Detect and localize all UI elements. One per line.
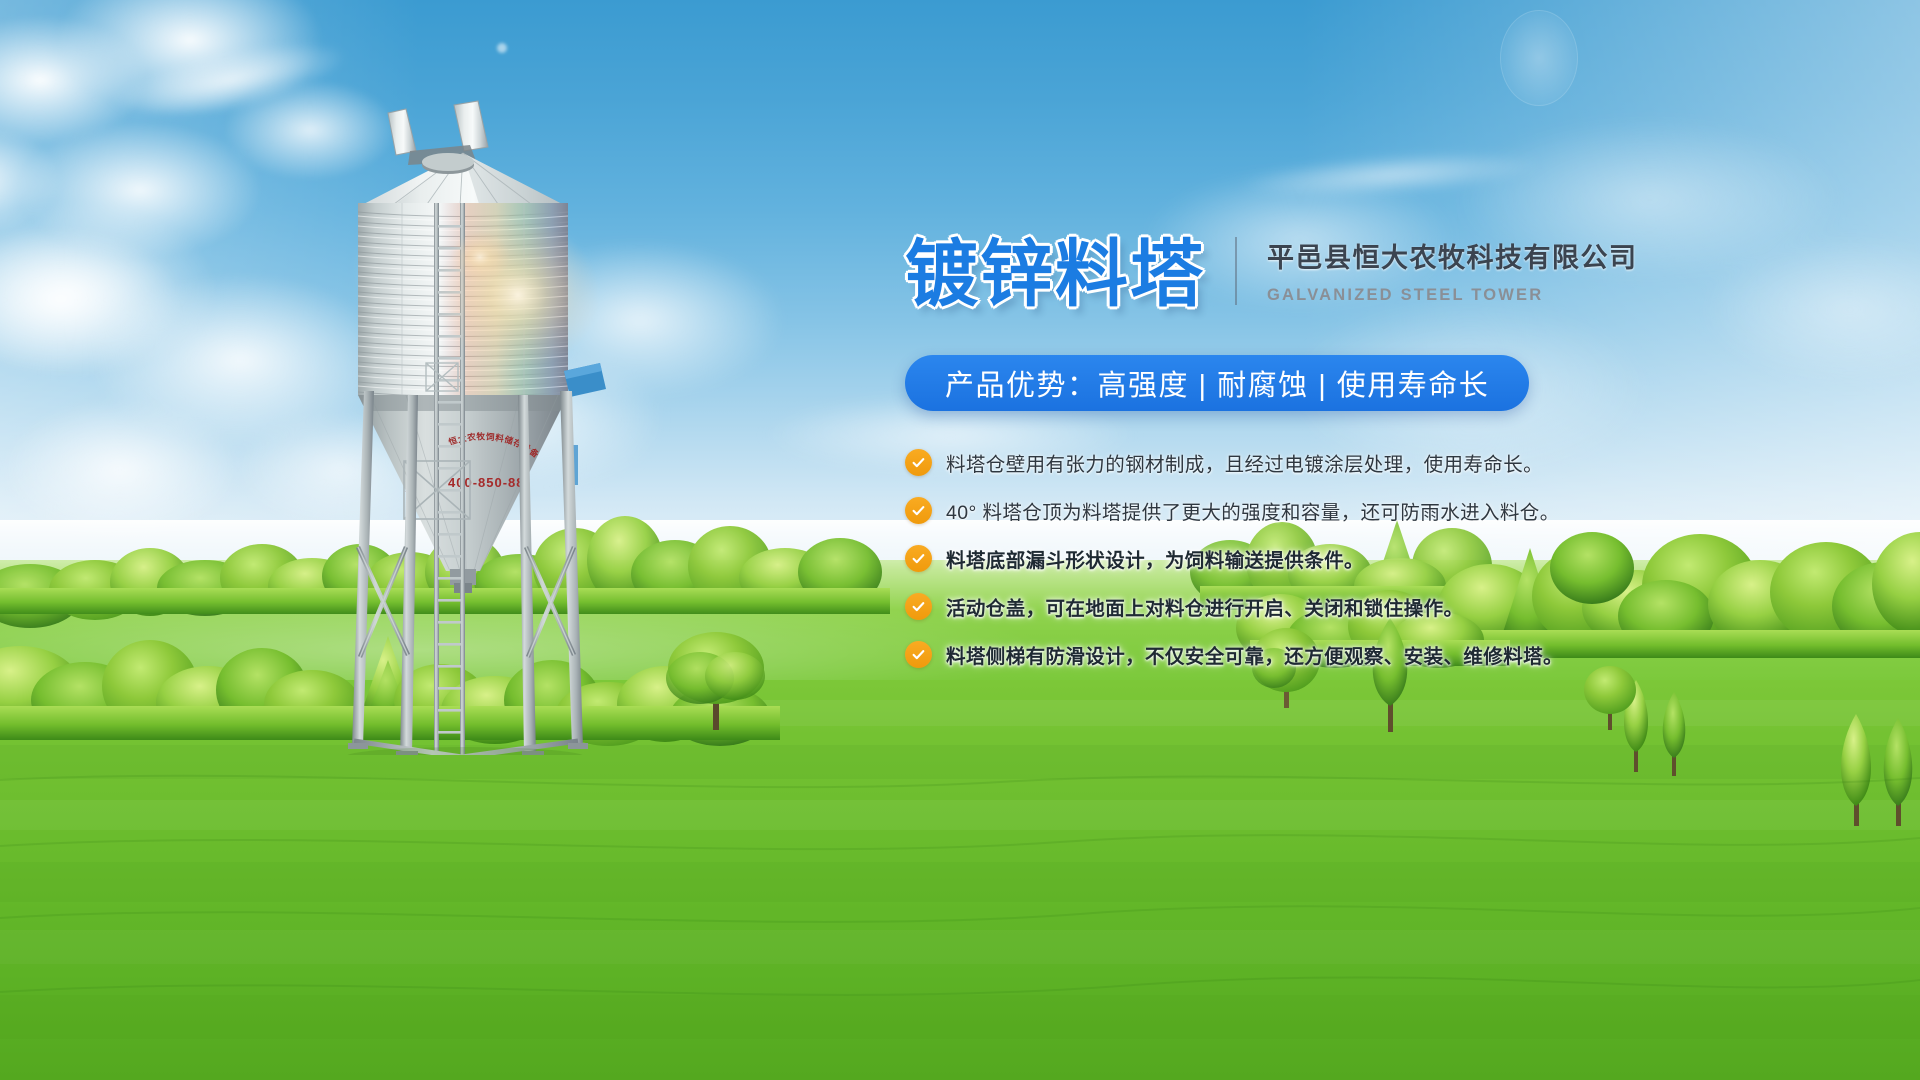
mow-stripe xyxy=(0,930,1920,964)
company-name: 平邑县恒大农牧科技有限公司 xyxy=(1267,236,1638,275)
advantage-pill: 产品优势：高强度 | 耐腐蚀 | 使用寿命长 xyxy=(905,355,1529,411)
advantage-pill-label: 产品优势：高强度 | 耐腐蚀 | 使用寿命长 xyxy=(945,362,1489,404)
check-circle-icon xyxy=(905,497,932,524)
list-item: 40° 料塔仓顶为料塔提供了更大的强度和容量，还可防雨水进入料仓。 xyxy=(905,497,1805,524)
check-circle-icon xyxy=(905,641,932,668)
silo-lens-flare-small xyxy=(450,231,510,283)
company-name-english: GALVANIZED STEEL TOWER xyxy=(1267,286,1638,305)
check-circle-icon xyxy=(905,593,932,620)
mow-stripe xyxy=(0,745,1920,779)
mow-stripe xyxy=(0,862,1920,902)
company-block: 平邑县恒大农牧科技有限公司 GALVANIZED STEEL TOWER xyxy=(1267,236,1638,311)
silo-roof xyxy=(358,153,568,207)
list-item: 料塔侧梯有防滑设计，不仅安全可靠，还方便观察、安装、维修料塔。 xyxy=(905,641,1805,668)
mow-stripe xyxy=(0,995,1920,1039)
list-item: 活动仓盖，可在地面上对料仓进行开启、关闭和锁住操作。 xyxy=(905,593,1805,620)
title-divider xyxy=(1235,237,1237,305)
mow-stripe xyxy=(0,800,1920,830)
check-circle-icon xyxy=(905,545,932,572)
content-panel: 镀锌料塔 平邑县恒大农牧科技有限公司 GALVANIZED STEEL TOWE… xyxy=(905,236,1805,689)
promo-banner: 恒大农牧饲料储存设备 400-850-8818 xyxy=(0,0,1920,1080)
mow-stripe xyxy=(0,700,1920,726)
list-item-label: 料塔仓壁用有张力的钢材制成，且经过电镀涂层处理，使用寿命长。 xyxy=(946,448,1543,477)
list-item: 料塔仓壁用有张力的钢材制成，且经过电镀涂层处理，使用寿命长。 xyxy=(905,449,1805,476)
list-item: 料塔底部漏斗形状设计，为饲料输送提供条件。 xyxy=(905,545,1805,572)
lens-flare-dot xyxy=(497,43,507,53)
feature-list: 料塔仓壁用有张力的钢材制成，且经过电镀涂层处理，使用寿命长。 40° 料塔仓顶为… xyxy=(905,449,1805,668)
silo-ground-shadow xyxy=(345,747,585,755)
list-item-label: 活动仓盖，可在地面上对料仓进行开启、关闭和锁住操作。 xyxy=(946,592,1463,621)
lens-flare-circle xyxy=(1500,10,1578,106)
check-circle-icon xyxy=(905,449,932,476)
galvanized-feed-silo: 恒大农牧饲料储存设备 400-850-8818 xyxy=(330,95,640,755)
title-row: 镀锌料塔 平邑县恒大农牧科技有限公司 GALVANIZED STEEL TOWE… xyxy=(905,236,1805,311)
page-title: 镀锌料塔 xyxy=(905,238,1205,311)
list-item-label: 料塔侧梯有防滑设计，不仅安全可靠，还方便观察、安装、维修料塔。 xyxy=(946,640,1563,669)
list-item-label: 料塔底部漏斗形状设计，为饲料输送提供条件。 xyxy=(946,544,1364,573)
list-item-label: 40° 料塔仓顶为料塔提供了更大的强度和容量，还可防雨水进入料仓。 xyxy=(946,496,1560,525)
